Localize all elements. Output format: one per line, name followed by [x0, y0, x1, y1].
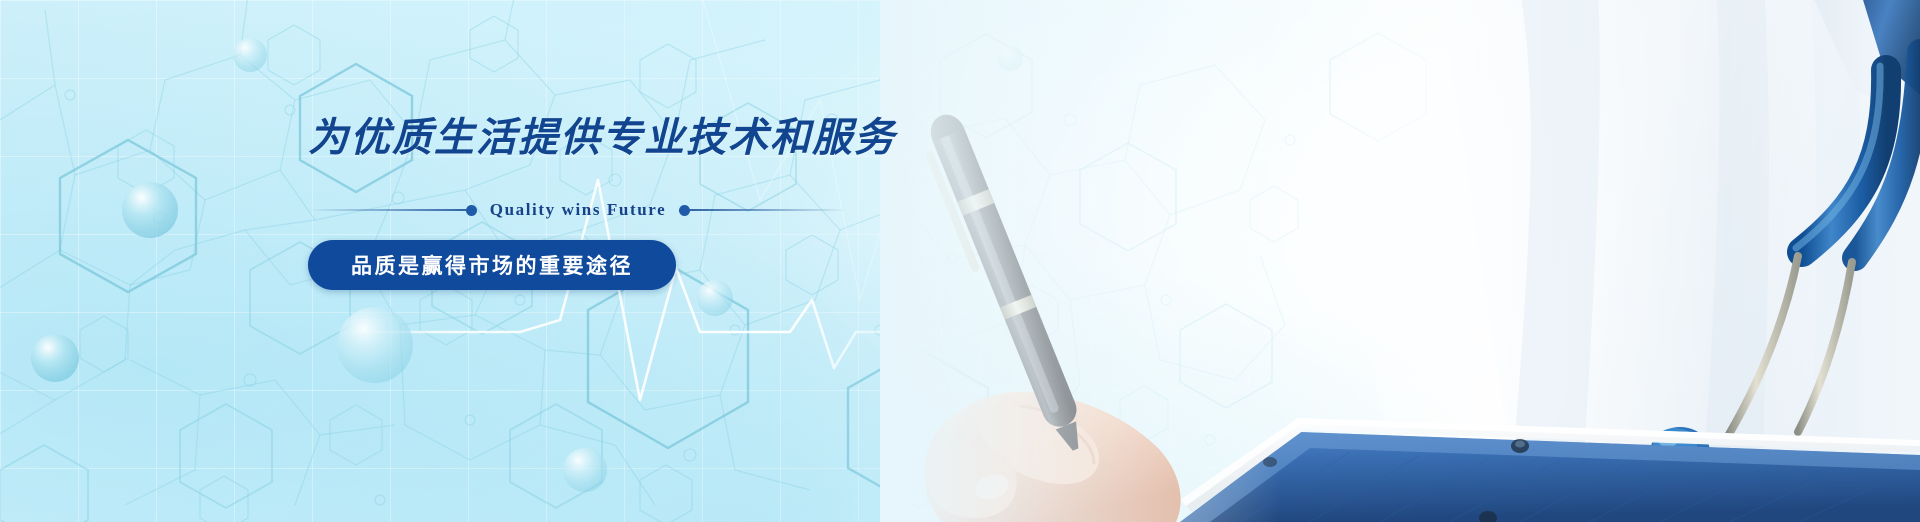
doctor-photo	[880, 0, 1920, 522]
tagline-row: Quality wins Future	[308, 200, 848, 220]
tagline-rule-left	[308, 209, 466, 211]
tagline-rule-right	[690, 209, 848, 211]
tagline-dot-right-icon	[679, 205, 690, 216]
page-title: 为优质生活提供专业技术和服务	[308, 118, 848, 158]
tagline-dot-left-icon	[466, 205, 477, 216]
hero-banner: 为优质生活提供专业技术和服务 Quality wins Future 品质是赢得…	[0, 0, 1920, 522]
subtitle-pill: 品质是赢得市场的重要途径	[308, 240, 676, 290]
tagline-english: Quality wins Future	[477, 200, 680, 220]
banner-copy: 为优质生活提供专业技术和服务 Quality wins Future 品质是赢得…	[308, 118, 848, 290]
subtitle-text: 品质是赢得市场的重要途径	[351, 250, 633, 280]
